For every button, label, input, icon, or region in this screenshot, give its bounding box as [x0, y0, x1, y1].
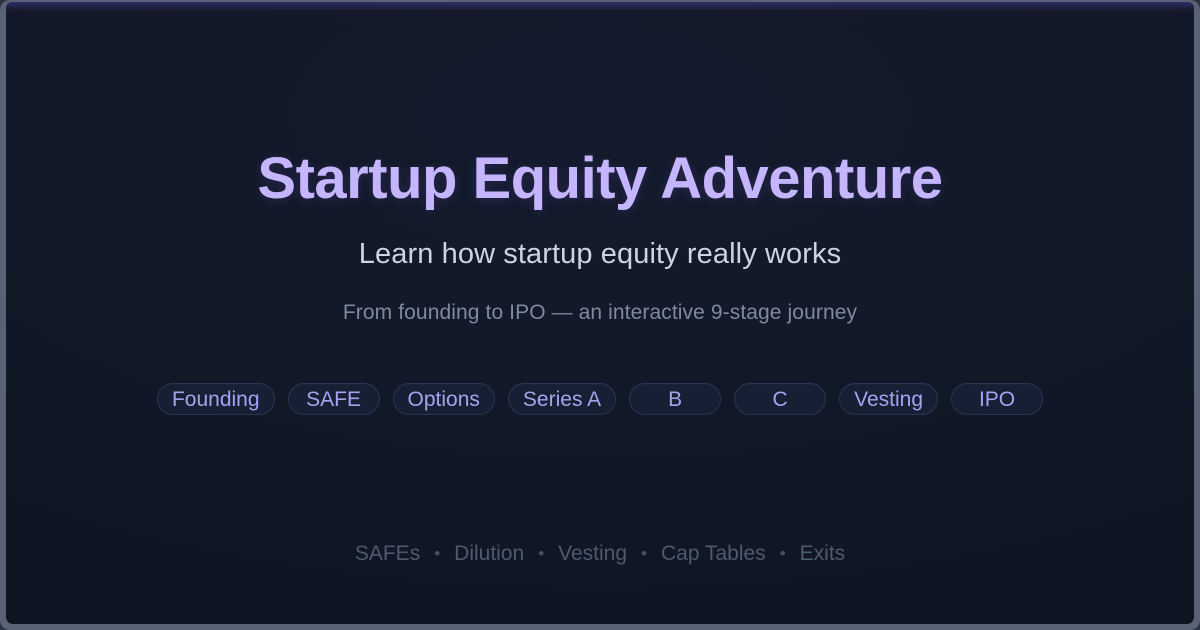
footer-keyword-list: SAFEs•Dilution•Vesting•Cap Tables•Exits	[355, 543, 845, 564]
stage-pill-label: Founding	[172, 389, 260, 410]
stage-pill-options[interactable]: Options	[393, 383, 495, 415]
stage-pill-list: FoundingSAFEOptionsSeries ABCVestingIPO	[157, 383, 1043, 415]
footer-keyword: Cap Tables	[661, 543, 766, 564]
keyword-separator: •	[780, 545, 786, 562]
hero-canvas: Startup Equity Adventure Learn how start…	[6, 2, 1194, 624]
footer-keyword: Dilution	[454, 543, 524, 564]
keyword-separator: •	[538, 545, 544, 562]
keyword-separator: •	[434, 545, 440, 562]
page-title: Startup Equity Adventure	[257, 150, 942, 208]
footer-keyword: Vesting	[558, 543, 627, 564]
footer-keyword: Exits	[800, 543, 846, 564]
window-frame: Startup Equity Adventure Learn how start…	[0, 0, 1200, 630]
stage-pill-label: Options	[408, 389, 480, 410]
hero-content: Startup Equity Adventure Learn how start…	[6, 2, 1194, 624]
stage-pill-label: Series A	[523, 389, 601, 410]
keyword-separator: •	[641, 545, 647, 562]
stage-pill-label: SAFE	[306, 389, 361, 410]
stage-pill-ipo[interactable]: IPO	[951, 383, 1043, 415]
stage-pill-label: C	[773, 389, 788, 410]
stage-pill-b[interactable]: B	[629, 383, 721, 415]
stage-pill-label: IPO	[979, 389, 1015, 410]
stage-pill-c[interactable]: C	[734, 383, 826, 415]
footer-keyword: SAFEs	[355, 543, 420, 564]
stage-pill-vesting[interactable]: Vesting	[839, 383, 938, 415]
page-tagline: From founding to IPO — an interactive 9-…	[343, 302, 857, 323]
stage-pill-series-a[interactable]: Series A	[508, 383, 616, 415]
stage-pill-label: B	[668, 389, 682, 410]
stage-pill-founding[interactable]: Founding	[157, 383, 275, 415]
stage-pill-safe[interactable]: SAFE	[288, 383, 380, 415]
page-subtitle: Learn how startup equity really works	[359, 240, 841, 269]
stage-pill-label: Vesting	[854, 389, 923, 410]
